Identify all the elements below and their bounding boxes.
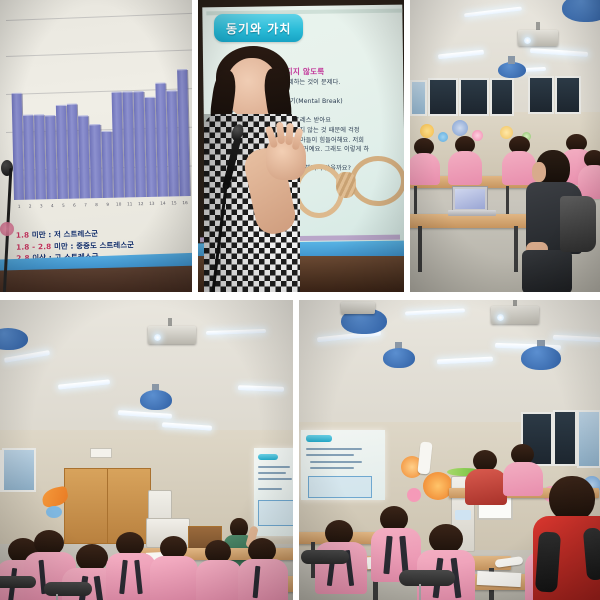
projector-lens-icon bbox=[497, 314, 504, 321]
window bbox=[410, 80, 427, 116]
window bbox=[577, 410, 600, 468]
audience-member-red-jacket bbox=[533, 476, 600, 600]
window bbox=[528, 76, 554, 114]
chart-bar bbox=[78, 115, 90, 199]
wall-decoration-blue bbox=[46, 506, 62, 518]
legend-text: 미만 : 중증도 스트레스군 bbox=[54, 239, 134, 250]
wall-sign bbox=[90, 448, 112, 458]
laptop-screen bbox=[452, 186, 488, 212]
air-duct bbox=[383, 348, 415, 368]
chair-leg bbox=[56, 594, 58, 600]
audience-body bbox=[106, 553, 156, 600]
window bbox=[2, 448, 36, 492]
chair-back bbox=[301, 550, 349, 564]
chart-bars bbox=[11, 48, 190, 200]
audience-body bbox=[410, 153, 440, 185]
air-duct bbox=[498, 62, 526, 78]
rope-knot-image bbox=[294, 150, 398, 222]
laptop-keyboard bbox=[448, 210, 496, 216]
audience-body bbox=[196, 560, 242, 600]
air-purifier-panel bbox=[455, 510, 471, 520]
chart-x-tick: 9 bbox=[102, 199, 112, 210]
chart-x-tick: 5 bbox=[58, 200, 68, 211]
screen-text-line bbox=[306, 448, 362, 450]
chair-leg bbox=[419, 584, 421, 600]
screen-slide-title-badge bbox=[258, 454, 278, 460]
wall-decoration-pink bbox=[407, 488, 421, 502]
window bbox=[0, 450, 2, 492]
handout-paper bbox=[477, 571, 522, 587]
window bbox=[555, 76, 581, 114]
audience-body bbox=[150, 556, 198, 600]
chair-back bbox=[560, 196, 596, 252]
audience-body bbox=[465, 469, 507, 505]
wall-flower-decoration bbox=[420, 124, 434, 138]
audience-member bbox=[465, 450, 505, 502]
laptop-display bbox=[455, 189, 485, 209]
chart-bar bbox=[23, 114, 35, 199]
slide-bottom-shadow bbox=[0, 265, 192, 292]
chart-x-tick: 15 bbox=[169, 197, 179, 208]
window bbox=[553, 410, 577, 466]
screen-slide-title-badge bbox=[306, 435, 332, 442]
screen-text-line bbox=[258, 478, 292, 480]
panel-wide-left bbox=[0, 300, 293, 600]
audience-member bbox=[448, 136, 480, 184]
slide-title-text: 동기와 가치 bbox=[226, 22, 291, 36]
chart-x-tick: 7 bbox=[80, 199, 90, 210]
chart-x-tick: 12 bbox=[136, 198, 146, 209]
chart-x-tick: 10 bbox=[114, 199, 124, 210]
screen-content-box bbox=[308, 476, 372, 498]
screen-content-box bbox=[258, 500, 293, 526]
chair-back bbox=[399, 570, 455, 586]
audience-member bbox=[238, 538, 286, 598]
chart-bar bbox=[90, 124, 102, 198]
rope-loop-right bbox=[350, 156, 404, 206]
projector-lens-icon bbox=[154, 334, 161, 341]
legend-range: 1.8 bbox=[16, 230, 30, 239]
presenter-figure bbox=[204, 52, 302, 292]
audience-member bbox=[150, 536, 196, 596]
chart-x-tick: 6 bbox=[69, 200, 79, 211]
chart-bar bbox=[34, 114, 46, 199]
chart-x-tick: 8 bbox=[91, 199, 101, 210]
panel-wide-right bbox=[299, 300, 600, 600]
audience-member bbox=[410, 138, 438, 184]
presenter-hand bbox=[266, 136, 306, 180]
chart-x-tick: 13 bbox=[147, 198, 157, 209]
legend-range: 1.8 - 2.8 bbox=[16, 241, 51, 251]
screen-text-line bbox=[310, 461, 362, 463]
projection-screen bbox=[301, 430, 385, 500]
air-duct bbox=[521, 346, 561, 370]
slide-title-badge: 동기와 가치 bbox=[214, 14, 303, 42]
screen-text-line bbox=[258, 472, 286, 474]
chart-bar bbox=[56, 104, 68, 199]
chair-back bbox=[0, 576, 36, 588]
chart-bar bbox=[101, 131, 113, 198]
chart-bar bbox=[45, 115, 57, 199]
ceiling-projector bbox=[341, 302, 375, 314]
chart-x-tick: 3 bbox=[36, 200, 46, 211]
audience-member bbox=[106, 532, 154, 596]
projector-lens-icon bbox=[524, 37, 531, 44]
duct-neck bbox=[508, 56, 515, 64]
window bbox=[459, 78, 489, 116]
jacket-black-panel bbox=[535, 531, 561, 592]
audience-member bbox=[417, 524, 473, 600]
photo-collage: 12345678910111213141516 1.8 미만 : 저 스트레스군… bbox=[0, 0, 600, 600]
chart-x-tick: 16 bbox=[180, 197, 190, 208]
air-duct bbox=[140, 390, 172, 410]
man-face bbox=[532, 162, 546, 182]
panel-speaker: 동기와 가치 ● 생각의 함정에 빠지지 않도록 마음을 잘못된 방법으로 통제… bbox=[198, 0, 404, 292]
screen-text-line bbox=[306, 454, 354, 456]
chair-back bbox=[44, 582, 92, 596]
chart-plot-area bbox=[14, 52, 190, 200]
audience-member bbox=[196, 540, 240, 598]
wall-flower-decoration bbox=[452, 120, 468, 136]
audience-member bbox=[371, 506, 419, 576]
man-legs bbox=[522, 250, 572, 292]
table-leg bbox=[418, 226, 422, 272]
audience-body bbox=[448, 151, 482, 185]
panel-room-right bbox=[410, 0, 600, 292]
screen-text-line bbox=[258, 488, 282, 490]
table-leg bbox=[514, 226, 518, 272]
window bbox=[490, 78, 514, 116]
window bbox=[428, 78, 458, 116]
legend-text: 미만 : 저 스트레스군 bbox=[32, 229, 98, 239]
chart-x-tick: 11 bbox=[125, 198, 135, 209]
chart-bar bbox=[12, 92, 24, 200]
chart-x-tick: 4 bbox=[47, 200, 57, 211]
projection-screen bbox=[254, 448, 293, 536]
wall-flower-decoration bbox=[438, 132, 448, 142]
chart-bar bbox=[177, 69, 190, 196]
screen-text-line bbox=[310, 467, 354, 469]
panel-chart-slide: 12345678910111213141516 1.8 미만 : 저 스트레스군… bbox=[0, 0, 192, 292]
foreground-person-blur bbox=[0, 222, 14, 236]
rope-knot bbox=[336, 172, 356, 198]
audience-body bbox=[238, 559, 288, 600]
chart-x-tick: 14 bbox=[158, 198, 168, 209]
screen-text-line bbox=[258, 466, 290, 468]
chart-x-tick: 2 bbox=[25, 201, 35, 212]
chart-bar bbox=[67, 104, 79, 199]
chart-x-tick: 1 bbox=[14, 201, 24, 212]
